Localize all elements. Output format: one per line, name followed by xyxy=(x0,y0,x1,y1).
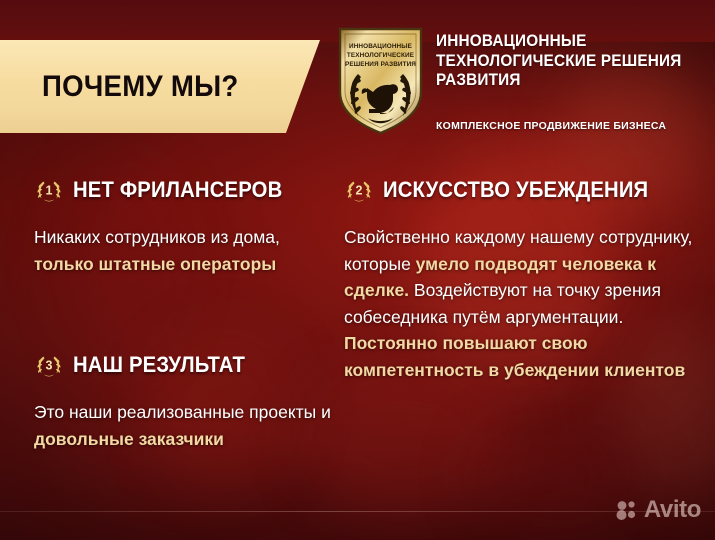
point-2-body: Свойственно каждому нашему сотруднику, к… xyxy=(344,224,712,383)
point-1: 1 НЕТ ФРИЛАНСЕРОВ Никаких сотрудников из… xyxy=(34,175,334,277)
svg-text:ИННОВАЦИОННЫЕ: ИННОВАЦИОННЫЕ xyxy=(349,43,413,50)
point-2: 2 ИСКУССТВО УБЕЖДЕНИЯ Свойственно каждом… xyxy=(344,175,712,383)
brand-name: ИННОВАЦИОННЫЕ ТЕХНОЛОГИЧЕСКИЕ РЕШЕНИЯ РА… xyxy=(436,32,708,91)
logo-block: ИННОВАЦИОННЫЕ ТЕХНОЛОГИЧЕСКИЕ РЕШЕНИЯ РА… xyxy=(336,24,708,142)
point-2-number: 2 xyxy=(356,184,363,198)
laurel-wreath-number-icon: 1 xyxy=(34,175,64,205)
point-3-header: 3 НАШ РЕЗУЛЬТАТ xyxy=(34,350,344,380)
svg-text:ТЕХНОЛОГИЧЕСКИЕ: ТЕХНОЛОГИЧЕСКИЕ xyxy=(347,52,415,59)
laurel-wreath-number-icon: 3 xyxy=(34,350,64,380)
point-2-run-3: Постоянно повышают свою компетентность в… xyxy=(344,333,685,380)
brand-line-3: РАЗВИТИЯ xyxy=(436,71,689,91)
point-1-run-1: только штатные операторы xyxy=(34,254,276,274)
point-2-header: 2 ИСКУССТВО УБЕЖДЕНИЯ xyxy=(344,175,712,205)
point-3-run-0: Это наши реализованные проекты и xyxy=(34,402,331,422)
avito-dots-icon xyxy=(615,498,639,522)
avito-watermark: Avito xyxy=(615,498,701,522)
point-1-number: 1 xyxy=(46,184,53,198)
avito-watermark-text: Avito xyxy=(644,498,701,522)
point-1-body: Никаких сотрудников из дома, только штат… xyxy=(34,224,334,277)
point-1-header: 1 НЕТ ФРИЛАНСЕРОВ xyxy=(34,175,334,205)
watermark-divider xyxy=(0,511,715,512)
laurel-wreath-number-icon: 2 xyxy=(344,175,374,205)
banner-why-us: ПОЧЕМУ МЫ? xyxy=(0,40,320,133)
point-3: 3 НАШ РЕЗУЛЬТАТ Это наши реализованные п… xyxy=(34,350,344,452)
point-1-run-0: Никаких сотрудников из дома, xyxy=(34,227,280,247)
point-3-body: Это наши реализованные проекты и довольн… xyxy=(34,399,344,452)
point-2-title: ИСКУССТВО УБЕЖДЕНИЯ xyxy=(383,177,648,203)
point-3-title: НАШ РЕЗУЛЬТАТ xyxy=(73,352,245,378)
point-1-title: НЕТ ФРИЛАНСЕРОВ xyxy=(73,177,282,203)
shield-griffin-laurel-icon: ИННОВАЦИОННЫЕ ТЕХНОЛОГИЧЕСКИЕ РЕШЕНИЯ РА… xyxy=(336,26,425,136)
poster-canvas: ПОЧЕМУ МЫ? ИННОВАЦИОННЫЕ ТЕХНОЛОГИЧЕСКИЕ… xyxy=(0,0,715,540)
point-3-number: 3 xyxy=(46,359,53,373)
page-title: ПОЧЕМУ МЫ? xyxy=(42,70,239,104)
brand-tagline: КОМПЛЕКСНОЕ ПРОДВИЖЕНИЕ БИЗНЕСА xyxy=(436,120,666,132)
point-3-run-1: довольные заказчики xyxy=(34,429,224,449)
brand-line-1: ИННОВАЦИОННЫЕ xyxy=(436,32,689,52)
brand-line-2: ТЕХНОЛОГИЧЕСКИЕ РЕШЕНИЯ xyxy=(436,52,689,72)
svg-text:РЕШЕНИЯ РАЗВИТИЯ: РЕШЕНИЯ РАЗВИТИЯ xyxy=(345,61,416,68)
